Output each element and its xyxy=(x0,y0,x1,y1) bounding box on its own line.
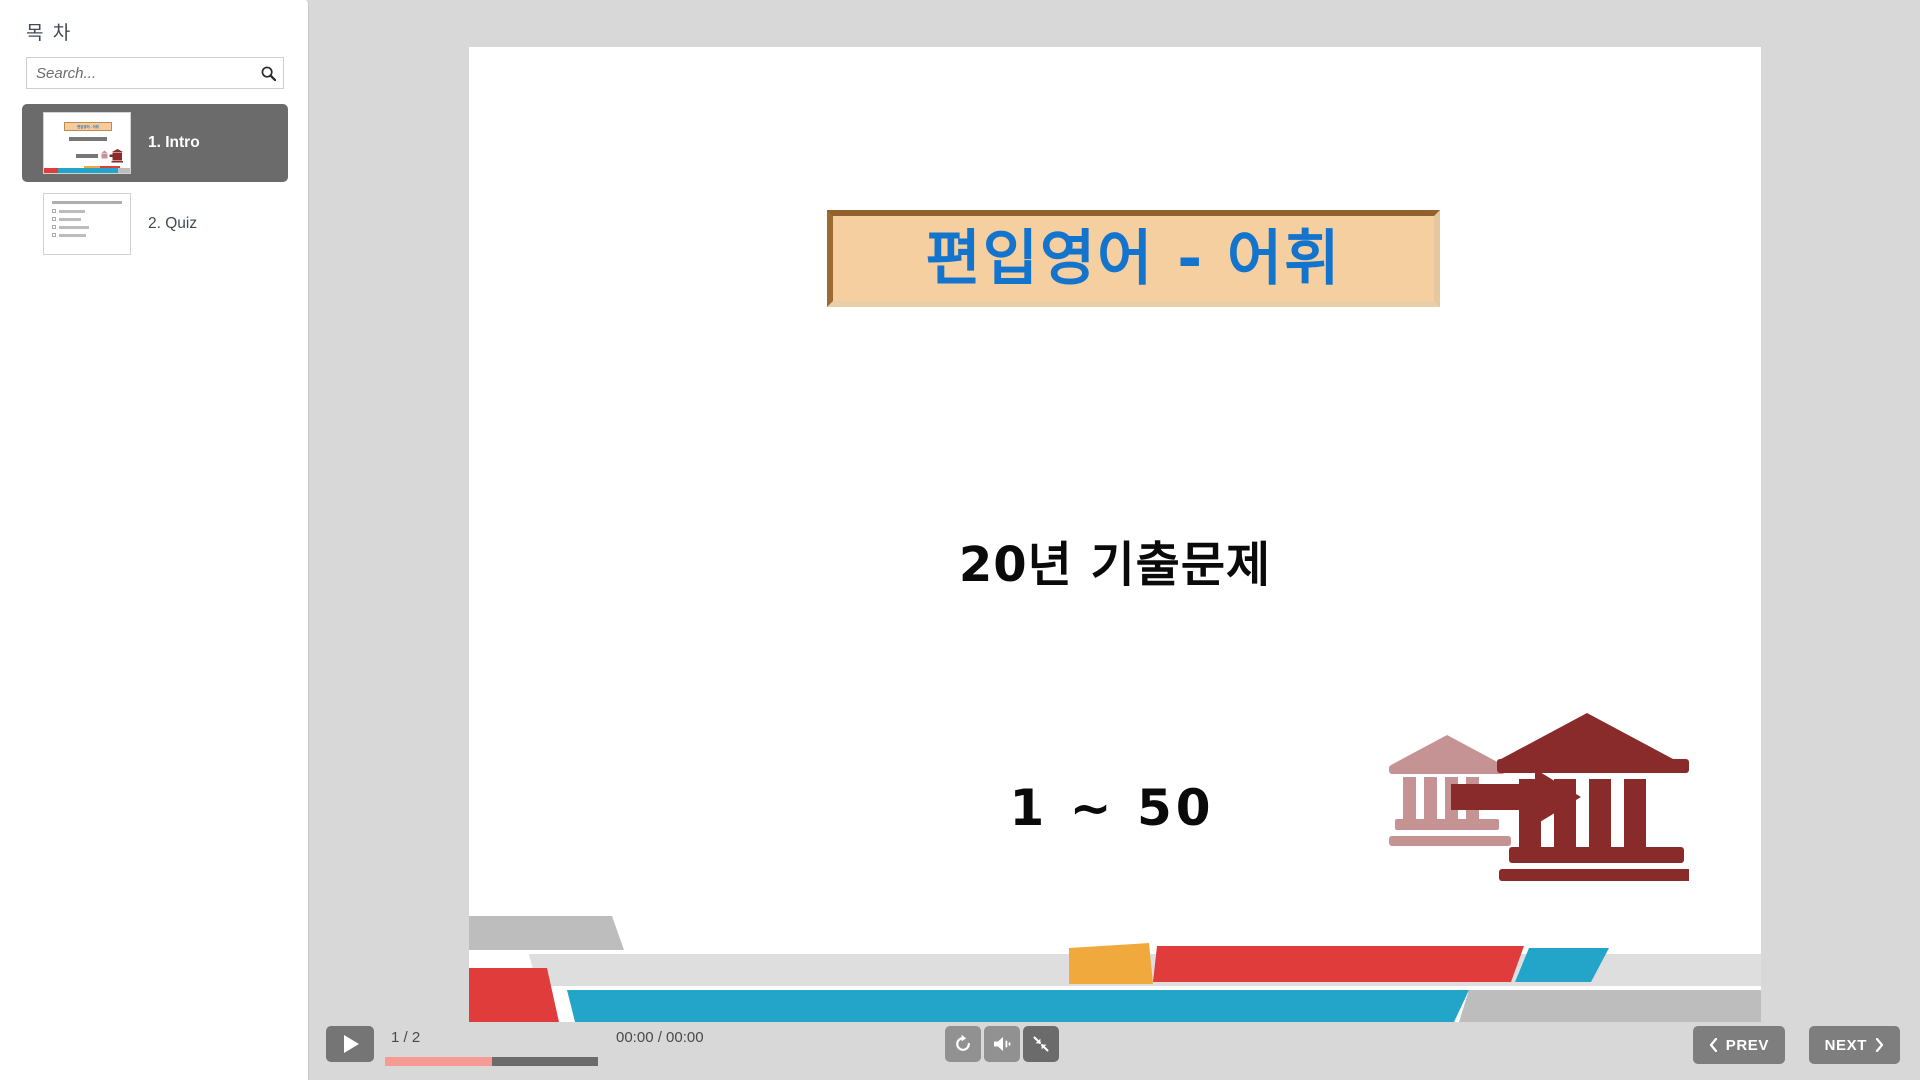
volume-button[interactable] xyxy=(984,1026,1020,1062)
mini-option xyxy=(52,233,122,237)
exit-fullscreen-icon xyxy=(1031,1034,1051,1054)
slide-title-banner: 편입영어 - 어휘 xyxy=(827,210,1440,307)
play-icon xyxy=(344,1035,359,1053)
toc-item-label: 1. Intro xyxy=(148,134,200,152)
fullscreen-button[interactable] xyxy=(1023,1026,1059,1062)
toc-item-intro[interactable]: 편입영어 - 어휘 xyxy=(22,104,288,182)
mini-option xyxy=(52,225,122,229)
mini-subtitle-1 xyxy=(69,137,107,141)
slide-title-text: 편입영어 - 어휘 xyxy=(926,229,1342,289)
chevron-right-icon xyxy=(1875,1038,1884,1052)
slide-stage: 편입영어 - 어휘 20년 기출문제 1 ~ 50 xyxy=(309,0,1920,1080)
next-label: NEXT xyxy=(1825,1037,1867,1054)
band-red-right xyxy=(1153,946,1524,982)
toc-thumbnail-intro: 편입영어 - 어휘 xyxy=(43,112,131,174)
slide-subtitle-year: 20년 기출문제 xyxy=(469,525,1761,595)
mini-subtitle-2 xyxy=(76,154,98,158)
band-orange xyxy=(1069,943,1153,984)
mini-quiz-content xyxy=(52,201,122,241)
replay-button[interactable] xyxy=(945,1026,981,1062)
search-input[interactable] xyxy=(27,65,253,82)
mini-footer-bands xyxy=(44,164,130,173)
page-counter: 1 / 2 xyxy=(391,1029,420,1046)
band-gray-right xyxy=(1459,990,1761,1022)
mini-option xyxy=(52,209,122,213)
slide-footer-bands xyxy=(469,902,1761,1022)
toc-item-quiz[interactable]: 2. Quiz xyxy=(22,185,288,263)
seekbar-fill xyxy=(385,1057,492,1066)
prev-label: PREV xyxy=(1726,1037,1769,1054)
slide-canvas: 편입영어 - 어휘 20년 기출문제 1 ~ 50 xyxy=(469,47,1761,1022)
sidebar-title: 목 차 xyxy=(0,0,308,45)
replay-icon xyxy=(953,1034,973,1054)
time-display: 00:00 / 00:00 xyxy=(616,1029,704,1046)
chevron-left-icon xyxy=(1709,1038,1718,1052)
mini-question-line xyxy=(52,201,122,204)
search-box[interactable] xyxy=(26,57,284,89)
band-red-left xyxy=(469,968,559,1022)
search-icon[interactable] xyxy=(253,66,283,81)
next-button[interactable]: NEXT xyxy=(1809,1026,1900,1064)
mini-option xyxy=(52,217,122,221)
seekbar[interactable] xyxy=(385,1057,598,1066)
mini-banner-text: 편입영어 - 어휘 xyxy=(68,124,107,130)
volume-icon xyxy=(992,1035,1012,1053)
toc-thumbnail-quiz xyxy=(43,193,131,255)
player-controls: 1 / 2 00:00 / 00:00 xyxy=(309,1020,1920,1080)
table-of-contents-sidebar: 목 차 편입영어 - 어휘 xyxy=(0,0,309,1080)
toc-list: 편입영어 - 어휘 xyxy=(22,104,288,266)
play-button[interactable] xyxy=(326,1026,374,1062)
toc-item-label: 2. Quiz xyxy=(148,215,197,233)
university-transfer-icon xyxy=(1389,697,1689,882)
band-cyan-main xyxy=(567,990,1469,1022)
band-gray-top xyxy=(469,916,624,950)
course-player: 목 차 편입영어 - 어휘 xyxy=(0,0,1920,1080)
mini-transfer-icon xyxy=(101,149,123,163)
prev-button[interactable]: PREV xyxy=(1693,1026,1785,1064)
mini-banner: 편입영어 - 어휘 xyxy=(64,122,112,131)
